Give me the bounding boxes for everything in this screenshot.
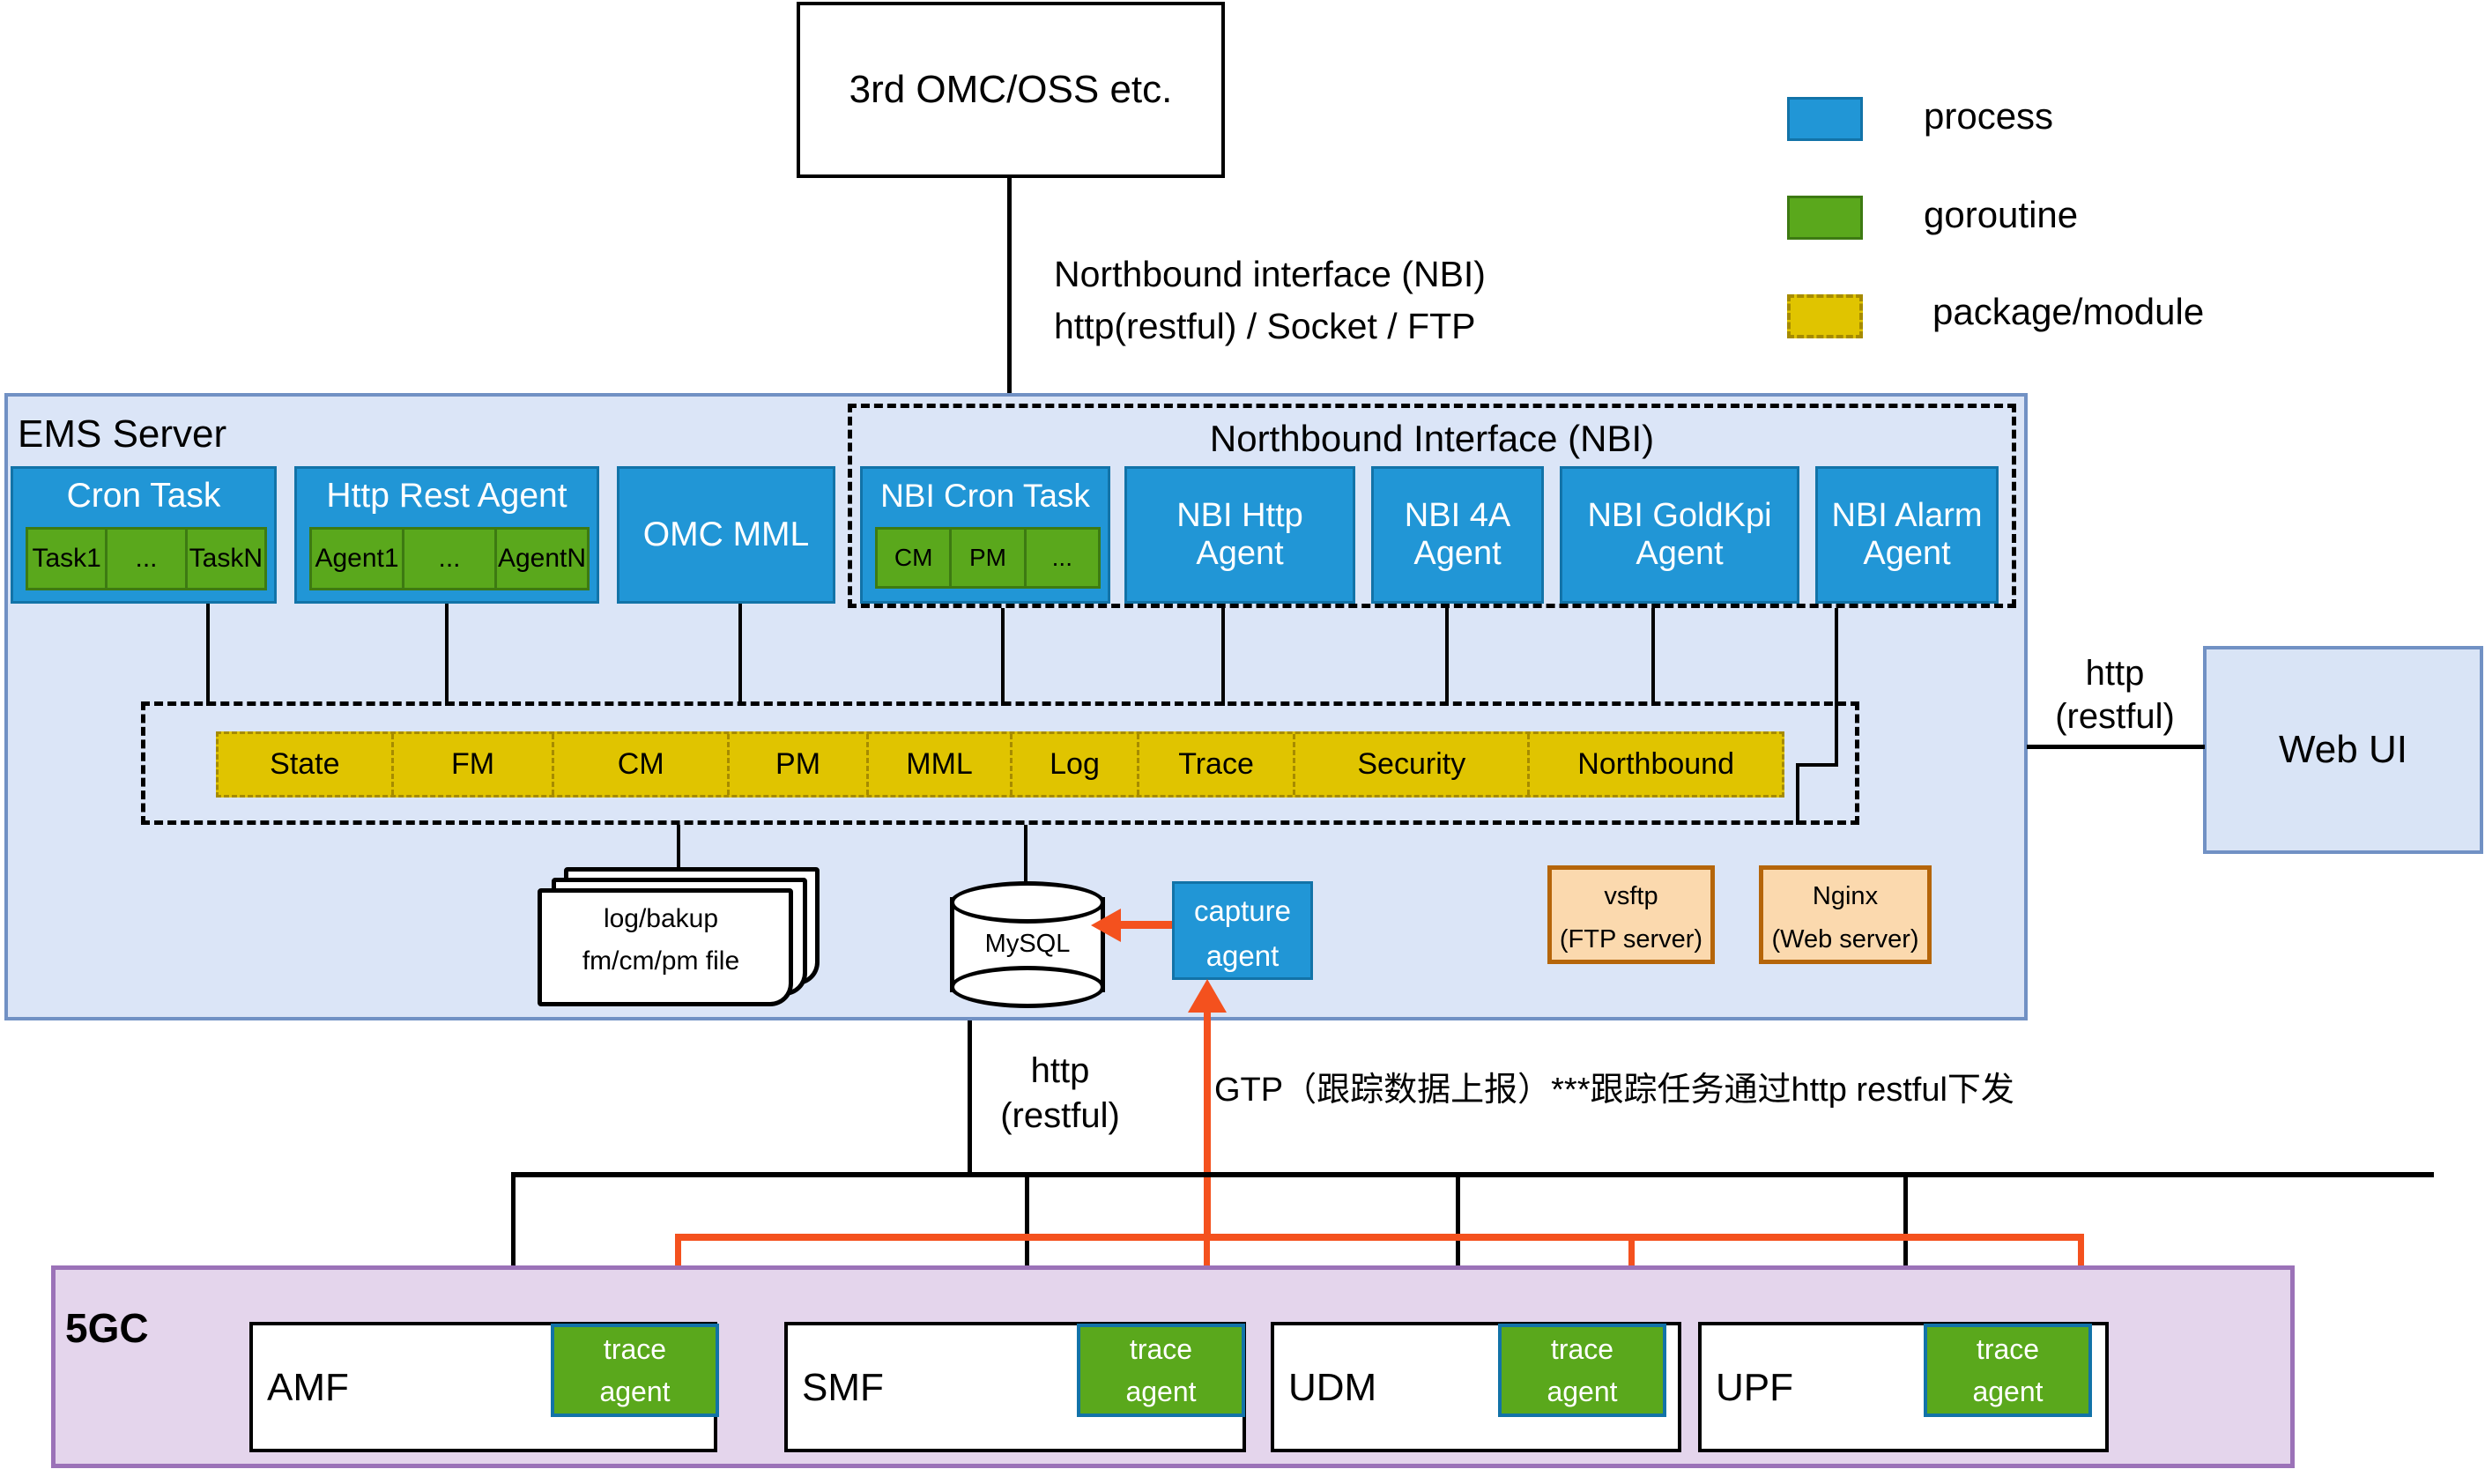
fivegc-title: 5GC: [65, 1304, 149, 1352]
process-cron-task-label: Cron Task: [13, 469, 274, 523]
server-nginx: Nginx (Web server): [1759, 865, 1932, 964]
module-pm[interactable]: PM: [730, 734, 869, 795]
webui-link-label-line1: http: [2036, 654, 2194, 693]
trace-agent-udm-line1: trace: [1502, 1327, 1663, 1373]
process-capture-agent[interactable]: capture agent: [1172, 881, 1313, 980]
connector-nbi-http-agent: [1221, 608, 1225, 706]
file-store-stack: log/bakup fm/cm/pm file: [529, 867, 828, 999]
process-http-rest-agent-label: Http Rest Agent: [297, 469, 597, 523]
process-nbi-alarm-agent[interactable]: NBI Alarm Agent: [1815, 466, 1999, 604]
goroutine-nbi-cm[interactable]: CM: [878, 530, 952, 586]
http-bus-horizontal: [511, 1172, 2434, 1177]
goroutine-nbi-ellipsis: ...: [1027, 530, 1098, 586]
gtp-arrow-head: [1188, 979, 1227, 1013]
trace-agent-udm[interactable]: trace agent: [1498, 1324, 1666, 1417]
http-link-label-line2: (restful): [985, 1094, 1135, 1137]
nf-node-amf-label: AMF: [267, 1366, 349, 1410]
server-vsftp-line1: vsftp: [1552, 870, 1710, 919]
legend-swatch-goroutine: [1787, 196, 1863, 240]
file-store-label-line2: fm/cm/pm file: [538, 943, 784, 980]
process-nbi-cron-task-label: NBI Cron Task: [863, 469, 1108, 523]
diagram-canvas: 3rd OMC/OSS etc. Northbound interface (N…: [0, 0, 2485, 1484]
goroutine-task1[interactable]: Task1: [28, 530, 108, 588]
webui-link-label-line2: (restful): [2036, 696, 2194, 737]
mysql-label: MySQL: [950, 925, 1105, 962]
process-nbi-goldkpi-agent-label: NBI GoldKpi Agent: [1562, 497, 1797, 572]
process-omc-mml[interactable]: OMC MML: [617, 466, 835, 604]
connector-http-rest-agent: [445, 604, 449, 706]
gtp-bus-horizontal: [675, 1234, 2084, 1241]
nbi-trunk-line: [1007, 178, 1012, 394]
trace-agent-amf[interactable]: trace agent: [551, 1324, 719, 1417]
legend-label-goroutine: goroutine: [1924, 194, 2078, 236]
mysql-bottom-cap: [950, 966, 1105, 1008]
connector-nbi-4a-agent: [1445, 608, 1449, 706]
external-omc-oss-box: 3rd OMC/OSS etc.: [797, 2, 1225, 178]
trace-agent-udm-line2: agent: [1502, 1373, 1663, 1412]
server-vsftp: vsftp (FTP server): [1547, 865, 1715, 964]
file-store-label-line1: log/bakup: [538, 901, 784, 938]
nf-node-udm-label: UDM: [1288, 1366, 1376, 1410]
goroutine-agentn[interactable]: AgentN: [497, 530, 587, 588]
goroutine-group-nbi-cron: CM PM ...: [875, 527, 1101, 589]
legend-label-process: process: [1924, 95, 2053, 137]
process-nbi-alarm-agent-label: NBI Alarm Agent: [1818, 497, 1996, 572]
http-trunk-vertical: [968, 1020, 972, 1176]
connector-ems-to-webui: [2027, 745, 2205, 749]
trace-agent-smf[interactable]: trace agent: [1077, 1324, 1245, 1417]
arrow-capture-to-mysql-head: [1091, 909, 1121, 942]
nbi-link-label-line1: Northbound interface (NBI): [1054, 254, 1486, 295]
goroutine-taskn[interactable]: TaskN: [188, 530, 264, 588]
server-nginx-line1: Nginx: [1763, 870, 1927, 919]
capture-agent-label-line1: capture: [1175, 884, 1310, 935]
nbi-link-label-line2: http(restful) / Socket / FTP: [1054, 306, 1475, 347]
capture-agent-label-line2: agent: [1175, 935, 1310, 977]
process-nbi-4a-agent[interactable]: NBI 4A Agent: [1371, 466, 1544, 604]
module-cm[interactable]: CM: [554, 734, 730, 795]
goroutine-agent-ellipsis: ...: [404, 530, 497, 588]
module-log[interactable]: Log: [1013, 734, 1139, 795]
module-bar: State FM CM PM MML Log Trace Security No…: [216, 731, 1784, 798]
trace-agent-smf-line2: agent: [1080, 1373, 1242, 1412]
goroutine-nbi-pm[interactable]: PM: [952, 530, 1026, 586]
connector-cron-task: [206, 604, 210, 706]
process-nbi-http-agent[interactable]: NBI Http Agent: [1124, 466, 1355, 604]
gtp-note-label: GTP（跟踪数据上报）***跟踪任务通过http restful下发: [1214, 1062, 2014, 1110]
trace-agent-upf-line2: agent: [1927, 1373, 2088, 1412]
ems-server-title: EMS Server: [18, 412, 226, 456]
gtp-arrow-shaft: [1204, 1009, 1211, 1238]
process-nbi-4a-agent-label: NBI 4A Agent: [1374, 497, 1541, 572]
goroutine-agent1[interactable]: Agent1: [312, 530, 404, 588]
trace-agent-upf-line1: trace: [1927, 1327, 2088, 1373]
goroutine-group-http: Agent1 ... AgentN: [309, 527, 590, 590]
process-nbi-http-agent-label: NBI Http Agent: [1127, 497, 1353, 572]
mysql-database: MySQL: [950, 881, 1105, 1006]
trace-agent-smf-line1: trace: [1080, 1327, 1242, 1373]
server-nginx-line2: (Web server): [1763, 919, 1927, 960]
module-state[interactable]: State: [219, 734, 394, 795]
process-omc-mml-label: OMC MML: [643, 516, 810, 554]
web-ui-label: Web UI: [2279, 728, 2407, 771]
legend-swatch-package: [1787, 294, 1863, 338]
process-nbi-cron-task[interactable]: NBI Cron Task CM PM ...: [860, 466, 1110, 604]
trace-agent-amf-line2: agent: [554, 1373, 716, 1412]
nf-node-upf-label: UPF: [1716, 1366, 1793, 1410]
goroutine-task-ellipsis: ...: [108, 530, 187, 588]
connector-omc-mml: [738, 604, 742, 706]
legend-swatch-process: [1787, 97, 1863, 141]
arrow-capture-to-mysql-shaft: [1117, 921, 1172, 929]
process-nbi-goldkpi-agent[interactable]: NBI GoldKpi Agent: [1560, 466, 1799, 604]
connector-modules-to-mysql: [1024, 825, 1027, 885]
trace-agent-upf[interactable]: trace agent: [1924, 1324, 2092, 1417]
mysql-top-cap: [950, 881, 1105, 924]
external-omc-oss-label: 3rd OMC/OSS etc.: [849, 68, 1173, 111]
module-mml[interactable]: MML: [869, 734, 1013, 795]
process-cron-task[interactable]: Cron Task Task1 ... TaskN: [11, 466, 277, 604]
module-security[interactable]: Security: [1295, 734, 1530, 795]
http-link-label-line1: http: [985, 1050, 1135, 1091]
module-fm[interactable]: FM: [394, 734, 555, 795]
nf-node-smf-label: SMF: [802, 1366, 884, 1410]
module-northbound[interactable]: Northbound: [1530, 734, 1782, 795]
connector-nbi-goldkpi-agent: [1651, 608, 1655, 706]
legend-label-package: package/module: [1932, 291, 2204, 333]
goroutine-group-cron: Task1 ... TaskN: [26, 527, 267, 590]
module-trace[interactable]: Trace: [1139, 734, 1295, 795]
nbi-group-title: Northbound Interface (NBI): [848, 414, 2016, 464]
connector-nbi-cron-task: [1001, 608, 1005, 706]
trace-agent-amf-line1: trace: [554, 1327, 716, 1373]
server-vsftp-line2: (FTP server): [1552, 919, 1710, 960]
process-http-rest-agent[interactable]: Http Rest Agent Agent1 ... AgentN: [294, 466, 599, 604]
legend: process goroutine package/module: [1787, 88, 2404, 344]
web-ui-box[interactable]: Web UI: [2203, 646, 2483, 854]
